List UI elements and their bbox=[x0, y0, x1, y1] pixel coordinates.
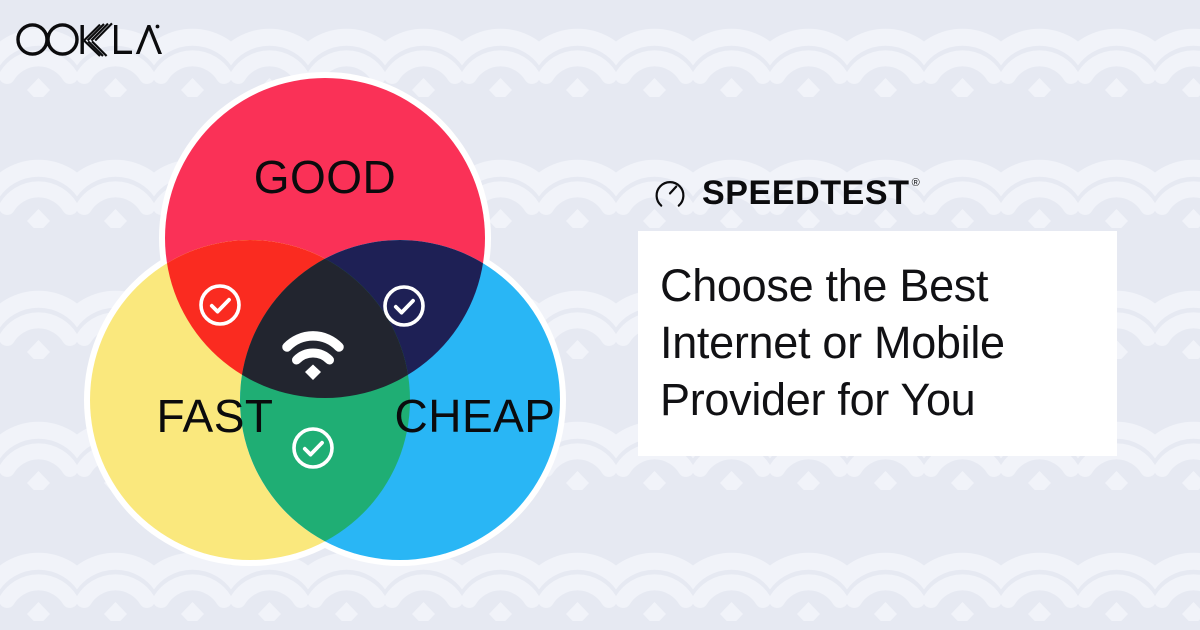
page-title: Choose the Best Internet or Mobile Provi… bbox=[660, 257, 1089, 428]
headline-line-1: Choose the Best bbox=[660, 260, 988, 311]
registered-mark-icon bbox=[156, 25, 160, 29]
speedometer-gauge-icon bbox=[652, 175, 688, 211]
speedtest-wordmark-text: SPEEDTEST bbox=[702, 176, 910, 210]
ookla-k-stripes-icon bbox=[84, 23, 112, 56]
headline-line-2: Internet or Mobile bbox=[660, 317, 1005, 368]
headline-card: Choose the Best Internet or Mobile Provi… bbox=[638, 231, 1117, 456]
right-content-column: SPEEDTEST ® Choose the Best Internet or … bbox=[638, 170, 1138, 456]
venn-label-cheap: CHEAP bbox=[395, 390, 556, 442]
venn-label-good: GOOD bbox=[254, 151, 397, 203]
venn-label-fast: FAST bbox=[156, 390, 273, 442]
headline-line-3: Provider for You bbox=[660, 374, 975, 425]
venn-diagram: GOOD FAST CHEAP bbox=[50, 60, 610, 580]
registered-trademark-symbol: ® bbox=[912, 178, 920, 189]
ookla-logo[interactable] bbox=[14, 16, 162, 60]
promo-banner: GOOD FAST CHEAP bbox=[0, 0, 1200, 630]
speedtest-logo[interactable]: SPEEDTEST ® bbox=[652, 170, 1138, 216]
